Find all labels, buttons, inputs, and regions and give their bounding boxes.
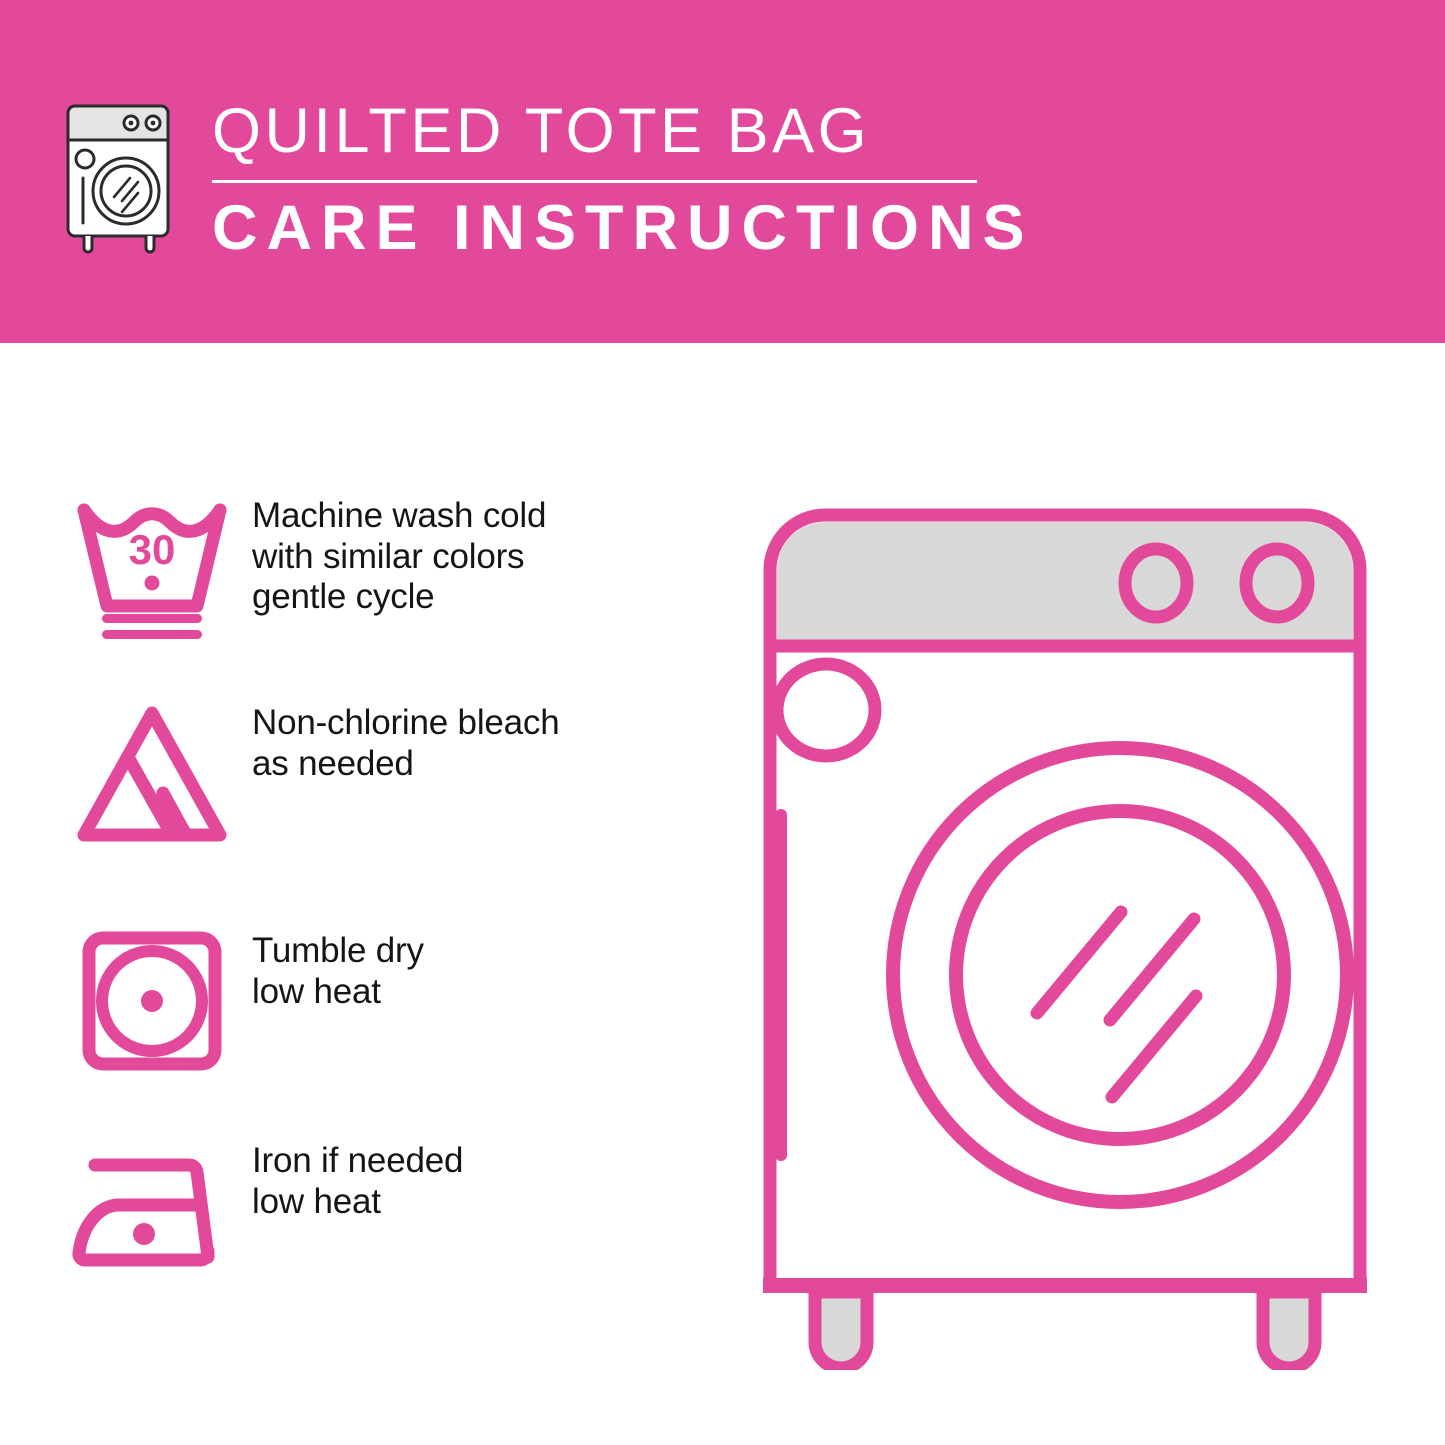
care-text-line: Machine wash cold [252,496,546,537]
care-instruction-text: Machine wash cold with similar colors ge… [242,488,546,618]
care-text-line: Iron if needed [252,1141,463,1182]
care-instruction-item: Non-chlorine bleach as needed [62,695,682,855]
care-text-line: low heat [252,1182,463,1223]
care-instruction-item: 30 Machine wash cold with similar colors… [62,488,682,648]
page-subtitle: CARE INSTRUCTIONS [210,197,1000,260]
iron-low-icon [62,1133,242,1293]
care-instructions-list: 30 Machine wash cold with similar colors… [0,343,700,1445]
care-text-line: with similar colors [252,537,546,578]
page-title: QUILTED TOTE BAG [210,100,1000,163]
tumble-dry-low-icon [62,923,242,1083]
washer-leg [1263,1292,1315,1368]
care-instruction-item: Iron if needed low heat [62,1133,682,1293]
washing-machine-icon [58,100,188,255]
wash-tub-30-gentle-icon: 30 [62,488,242,648]
care-instruction-item: Tumble dry low heat [62,923,682,1083]
care-instructions-page: QUILTED TOTE BAG CARE INSTRUCTIONS 30 Ma… [0,0,1445,1445]
header-text-block: QUILTED TOTE BAG CARE INSTRUCTIONS [210,100,1000,260]
care-instruction-text: Tumble dry low heat [242,923,424,1012]
care-text-line: Non-chlorine bleach [252,703,560,744]
care-text-line: gentle cycle [252,577,546,618]
header-banner: QUILTED TOTE BAG CARE INSTRUCTIONS [0,0,1445,343]
care-instruction-text: Non-chlorine bleach as needed [242,695,560,784]
title-divider [212,180,977,183]
bleach-triangle-stripes-icon [62,695,242,855]
front-load-washing-machine-illustration [715,470,1415,1370]
care-instruction-text: Iron if needed low heat [242,1133,463,1222]
care-text-line: as needed [252,744,560,785]
wash-temperature-value: 30 [129,526,176,573]
care-text-line: Tumble dry [252,931,424,972]
care-text-line: low heat [252,972,424,1013]
washer-leg [815,1292,867,1368]
